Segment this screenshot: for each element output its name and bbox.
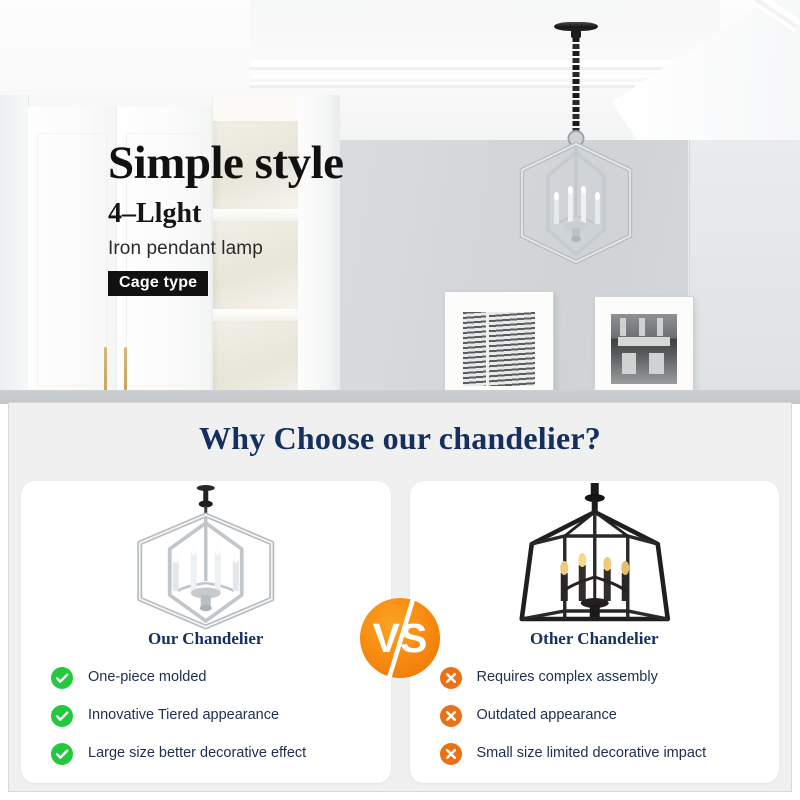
feature-item: Requires complex assembly — [440, 667, 766, 689]
hero-badge: Cage type — [108, 271, 208, 296]
feature-item: Small size limited decorative impact — [440, 743, 766, 765]
feature-text: Small size limited decorative impact — [477, 746, 707, 762]
right-wall-panel — [690, 140, 800, 404]
wall-frame-right — [594, 296, 694, 398]
feature-item: Outdated appearance — [440, 705, 766, 727]
artwork-column — [657, 318, 663, 336]
feature-text: Requires complex assembly — [477, 670, 658, 686]
storefront-artwork — [611, 314, 677, 384]
feature-item: Innovative Tiered appearance — [51, 705, 377, 727]
product-infographic: Simple style 4–Llght Iron pendant lamp C… — [0, 0, 800, 800]
feature-text: Outdated appearance — [477, 708, 617, 724]
artwork-column — [620, 318, 626, 336]
hanging-chain-icon — [573, 37, 580, 133]
feature-text: Large size better decorative effect — [88, 746, 306, 762]
feature-list-our: One-piece molded Innovative Tiered appea… — [51, 667, 377, 765]
check-circle-icon — [51, 743, 73, 765]
card-our-chandelier: Our Chandelier One-piece molded Innovati… — [21, 481, 391, 783]
silver-cage-chandelier-icon — [21, 481, 391, 633]
card-label-other: Other Chandelier — [410, 629, 780, 649]
blinds-artwork — [463, 312, 535, 386]
card-label-our: Our Chandelier — [21, 629, 391, 649]
card-other-chandelier: Other Chandelier Requires complex assemb… — [410, 481, 780, 783]
black-cage-chandelier-icon — [410, 481, 780, 633]
vs-badge: VS — [357, 595, 443, 681]
cross-circle-icon — [440, 743, 462, 765]
wall-frame-left — [444, 291, 554, 401]
feature-item: Large size better decorative effect — [51, 743, 377, 765]
framed-photo-storefront — [611, 314, 677, 384]
check-circle-icon — [51, 667, 73, 689]
hero-room-photo: Simple style 4–Llght Iron pendant lamp C… — [0, 0, 800, 404]
check-circle-icon — [51, 705, 73, 727]
artwork-sign — [618, 337, 671, 346]
feature-text: One-piece molded — [88, 670, 207, 686]
cross-circle-icon — [440, 705, 462, 727]
cabinet-side-return — [0, 95, 29, 404]
hero-headline: Simple style — [108, 140, 528, 187]
cabinet-door-inset — [37, 133, 107, 386]
framed-photo-blinds — [463, 312, 535, 386]
shelf-board — [213, 309, 299, 321]
feature-item: One-piece molded — [51, 667, 377, 689]
hero-subhead: 4–Llght — [108, 196, 528, 231]
artwork-window — [649, 353, 664, 374]
comparison-panel: Why Choose our chandelier? — [8, 402, 792, 792]
feature-text: Innovative Tiered appearance — [88, 708, 279, 724]
panel-title: Why Choose our chandelier? — [9, 420, 791, 457]
artwork-window — [622, 353, 637, 374]
hero-badge-label: Cage type — [119, 274, 197, 291]
hero-description: Iron pendant lamp — [108, 238, 528, 260]
artwork-column — [639, 318, 645, 336]
hero-copy: Simple style 4–Llght Iron pendant lamp C… — [108, 140, 528, 296]
feature-list-other: Requires complex assembly Outdated appea… — [440, 667, 766, 765]
